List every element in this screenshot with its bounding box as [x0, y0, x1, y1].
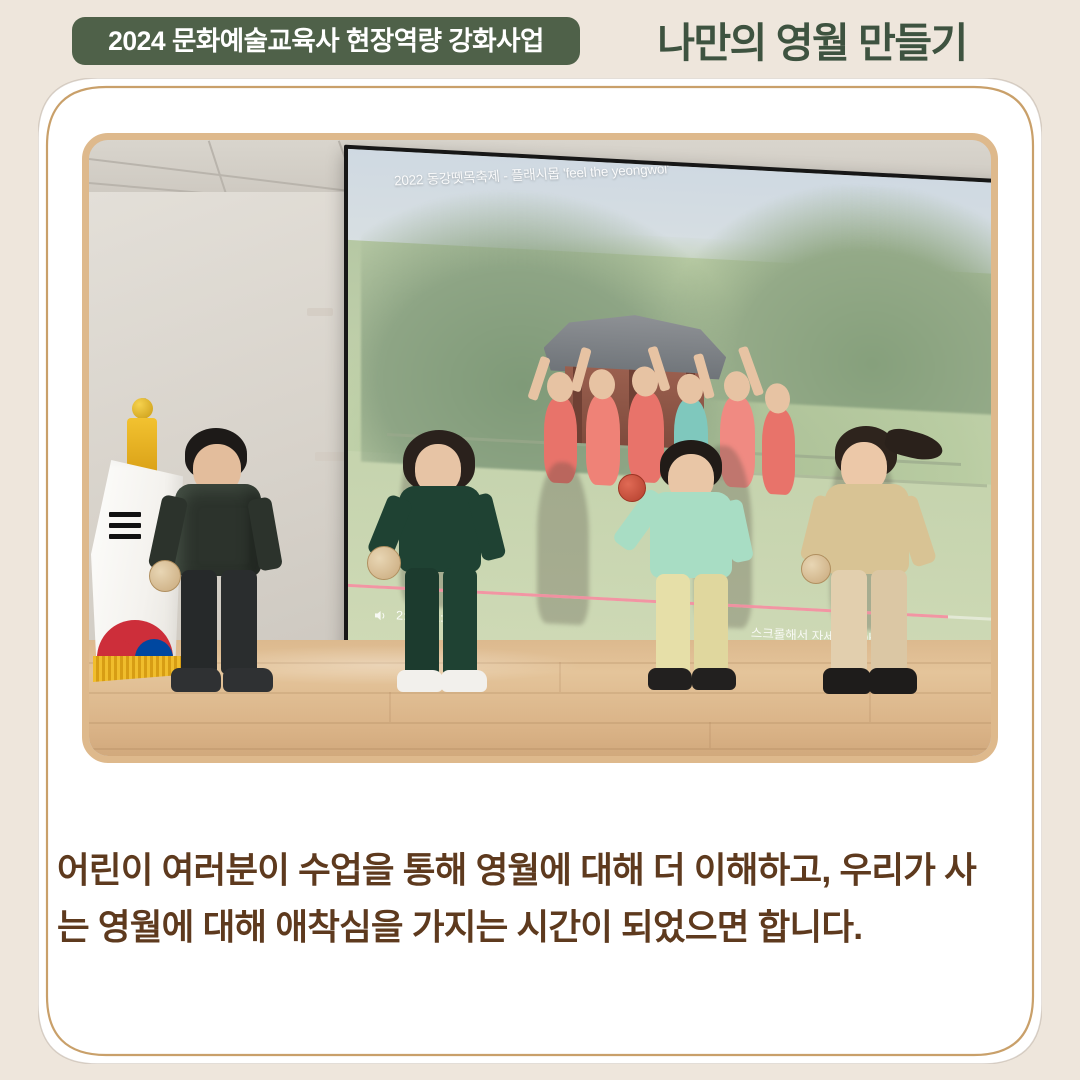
program-badge: 2024 문화예술교육사 현장역량 강화사업: [72, 17, 580, 65]
video-kid: [762, 407, 795, 494]
wall-mark: [307, 308, 333, 316]
child-shoe: [692, 668, 736, 690]
child-leg: [694, 574, 728, 674]
video-kid: [586, 393, 620, 485]
child-shoe: [223, 668, 273, 692]
program-badge-label: 2024 문화예술교육사 현장역량 강화사업: [108, 28, 544, 55]
poster-root: 2024 문화예술교육사 현장역량 강화사업 나만의 영월 만들기: [0, 0, 1080, 1080]
page-title-text: 나만의 영월 만들기: [657, 23, 967, 64]
caption-text: 어린이 여러분이 수업을 통해 영월에 대해 더 이해하고, 우리가 사는 영월…: [57, 842, 987, 957]
child-top: [175, 484, 261, 576]
child-top: [825, 484, 909, 574]
activity-photo-frame: 2022 동강뗏목축제 - 플래시몹 'feel the yeongwol' 2: [82, 133, 998, 763]
floor-seam: [89, 748, 991, 750]
hand-drum: [801, 554, 831, 584]
hand-drum: [367, 546, 401, 580]
wall-mark: [315, 452, 345, 461]
child-shoe: [869, 668, 917, 694]
child-leg: [405, 568, 439, 676]
child-shoe: [441, 670, 487, 692]
child-shoe: [823, 668, 871, 694]
flag-trigram: [109, 523, 141, 528]
flag-finial: [132, 398, 153, 419]
page-title: 나만의 영월 만들기: [612, 8, 1012, 78]
child-figure: [807, 426, 947, 736]
flag-trigram: [109, 534, 141, 539]
child-shoe: [171, 668, 221, 692]
video-kid-head: [765, 382, 790, 414]
child-leg: [656, 574, 690, 674]
video-kid-head: [724, 370, 750, 402]
video-kid-head: [547, 371, 573, 403]
child-shoe: [648, 668, 692, 690]
hand-drum: [618, 474, 646, 502]
flag-trigram: [109, 512, 141, 517]
child-shoe: [397, 670, 443, 692]
activity-photo: 2022 동강뗏목축제 - 플래시몹 'feel the yeongwol' 2: [89, 140, 991, 756]
shadow-silhouette: [537, 461, 589, 625]
header: 2024 문화예술교육사 현장역량 강화사업 나만의 영월 만들기: [0, 0, 1080, 90]
child-figure: [379, 430, 509, 730]
child-leg: [871, 570, 907, 674]
child-figure: [149, 428, 299, 728]
hand-drum: [149, 560, 181, 592]
child-leg: [443, 568, 477, 676]
child-leg: [831, 570, 867, 674]
child-leg: [221, 570, 257, 674]
child-figure: [634, 440, 764, 730]
child-leg: [181, 570, 217, 674]
